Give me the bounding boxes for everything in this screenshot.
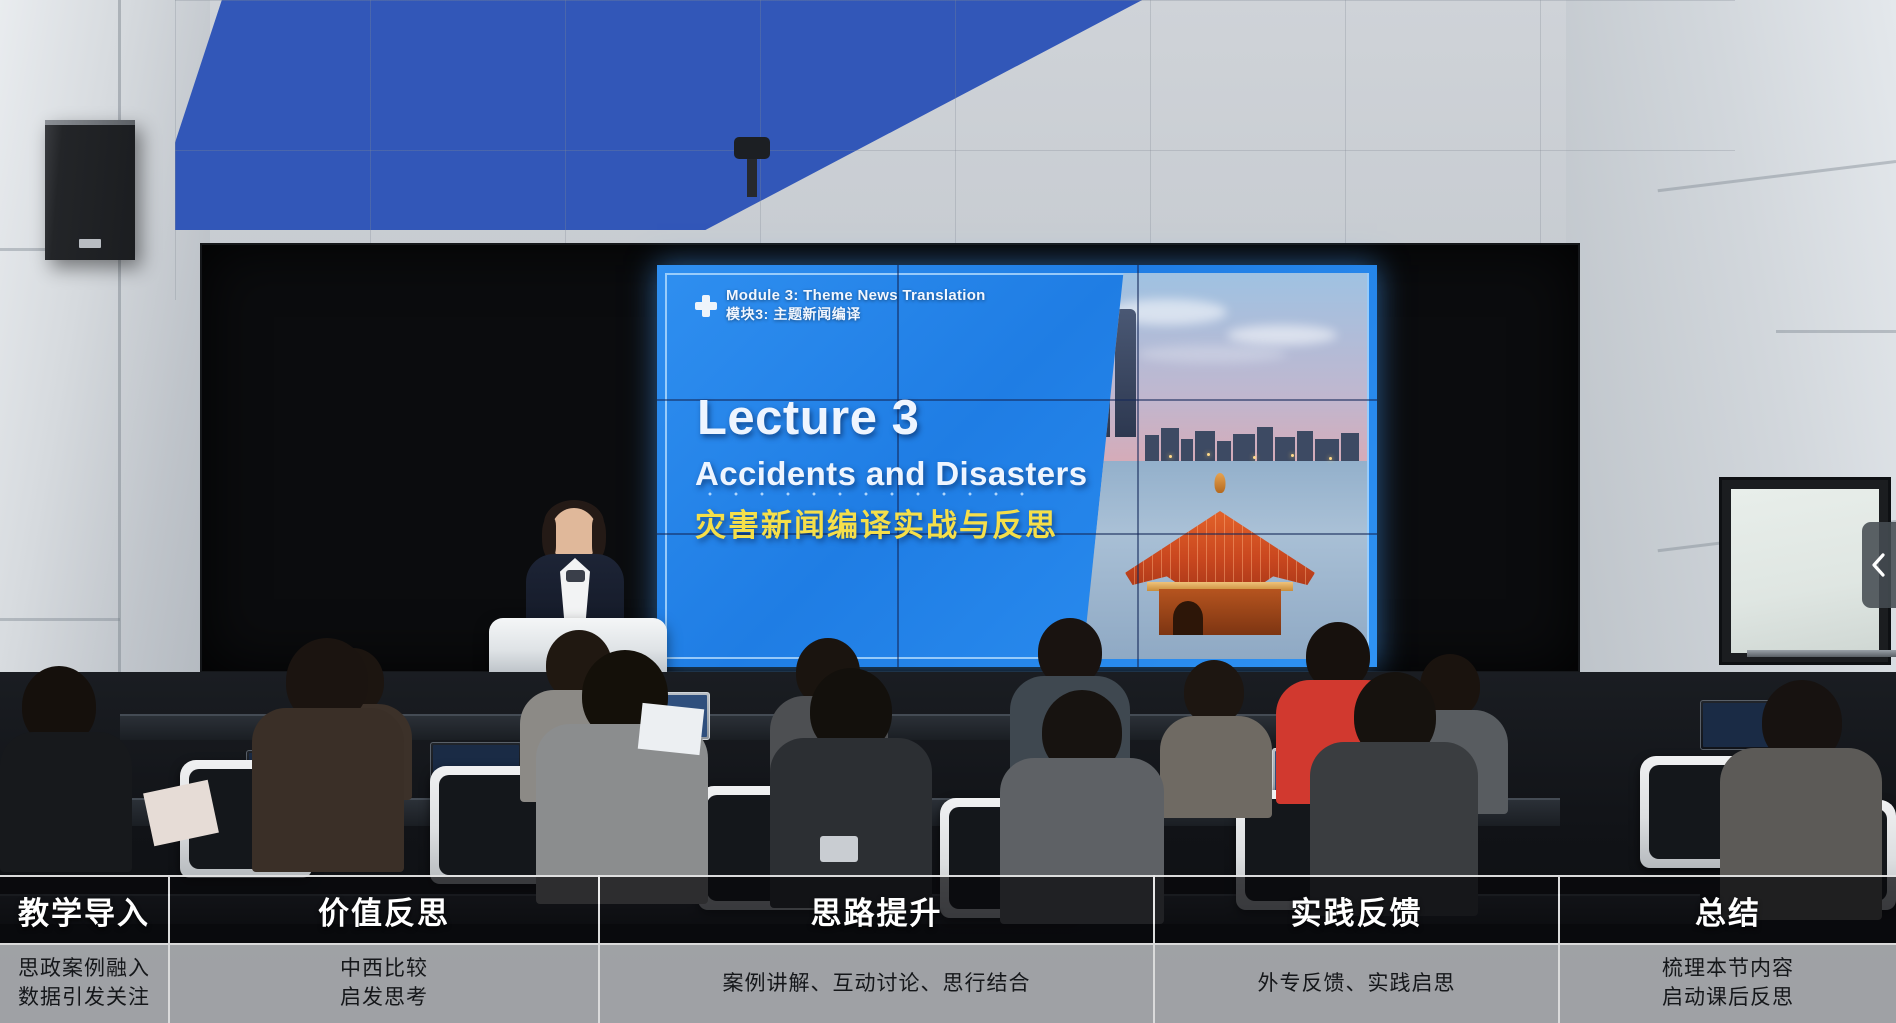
plus-icon xyxy=(695,295,717,317)
caption-line: 外专反馈、实践启思 xyxy=(1258,970,1456,999)
caption-title-3: 思路提升 xyxy=(600,875,1153,945)
caption-body-5: 梳理本节内容 启动课后反思 xyxy=(1560,945,1896,1023)
wall-seam xyxy=(0,618,120,621)
lecture-hall-video-frame: Module 3: Theme News Translation 模块3: 主题… xyxy=(0,0,1896,1023)
presentation-slide: Module 3: Theme News Translation 模块3: 主题… xyxy=(657,265,1377,667)
whiteboard-tray xyxy=(1747,650,1896,657)
wall-seam xyxy=(1776,330,1896,333)
slide-title: Lecture 3 xyxy=(697,390,919,446)
student xyxy=(1160,660,1272,816)
collapse-panel-button[interactable] xyxy=(1862,522,1896,608)
screen-seam xyxy=(1137,265,1139,667)
caption-column-1: 教学导入 思政案例融入 数据引发关注 xyxy=(0,875,170,1023)
wall-speaker xyxy=(45,120,135,260)
caption-title-5: 总结 xyxy=(1560,875,1896,945)
caption-line: 案例讲解、互动讨论、思行结合 xyxy=(723,970,1031,999)
student xyxy=(252,638,402,868)
student xyxy=(536,650,706,900)
slide-subtitle-zh: 灾害新闻编译实战与反思 xyxy=(695,500,1058,545)
module-title-en: Module 3: Theme News Translation xyxy=(726,287,986,304)
caption-line: 数据引发关注 xyxy=(18,984,150,1013)
instructor xyxy=(516,500,636,625)
city-skyline xyxy=(1077,413,1367,461)
led-video-wall: Module 3: Theme News Translation 模块3: 主题… xyxy=(200,243,1580,673)
slide-module-header: Module 3: Theme News Translation 模块3: 主题… xyxy=(695,287,986,325)
student xyxy=(770,668,930,904)
speaker-brand-badge xyxy=(79,239,101,248)
caption-line: 中西比较 xyxy=(340,955,428,984)
caption-title-1: 教学导入 xyxy=(0,875,168,945)
caption-title-4: 实践反馈 xyxy=(1155,875,1558,945)
slide-dot-divider xyxy=(697,491,1027,497)
caption-bar: 教学导入 思政案例融入 数据引发关注 价值反思 中西比较 启发思考 思路提升 案… xyxy=(0,875,1896,1023)
ceiling-camera xyxy=(734,137,770,159)
caption-line: 启动课后反思 xyxy=(1662,984,1794,1013)
caption-body-4: 外专反馈、实践启思 xyxy=(1155,945,1558,1023)
caption-line: 思政案例融入 xyxy=(18,955,150,984)
caption-title-2: 价值反思 xyxy=(170,875,598,945)
caption-body-1: 思政案例融入 数据引发关注 xyxy=(0,945,168,1023)
chevron-left-icon xyxy=(1871,552,1887,578)
camera-mount xyxy=(747,155,757,197)
student xyxy=(0,666,130,866)
caption-body-2: 中西比较 启发思考 xyxy=(170,945,598,1023)
caption-line: 梳理本节内容 xyxy=(1662,955,1794,984)
caption-column-3: 思路提升 案例讲解、互动讨论、思行结合 xyxy=(600,875,1155,1023)
slide-subtitle-en: Accidents and Disasters xyxy=(695,455,1088,493)
pagoda-illustration xyxy=(1125,485,1315,635)
caption-column-2: 价值反思 中西比较 启发思考 xyxy=(170,875,600,1023)
caption-column-4: 实践反馈 外专反馈、实践启思 xyxy=(1155,875,1560,1023)
caption-column-5: 总结 梳理本节内容 启动课后反思 xyxy=(1560,875,1896,1023)
slide-photo xyxy=(1077,273,1367,659)
caption-line: 启发思考 xyxy=(340,984,428,1013)
whiteboard-panel xyxy=(1714,472,1896,682)
paper-sheet xyxy=(638,703,704,755)
tablet xyxy=(820,836,858,862)
caption-body-3: 案例讲解、互动讨论、思行结合 xyxy=(600,945,1153,1023)
module-title-zh: 模块3: 主题新闻编译 xyxy=(726,306,861,322)
